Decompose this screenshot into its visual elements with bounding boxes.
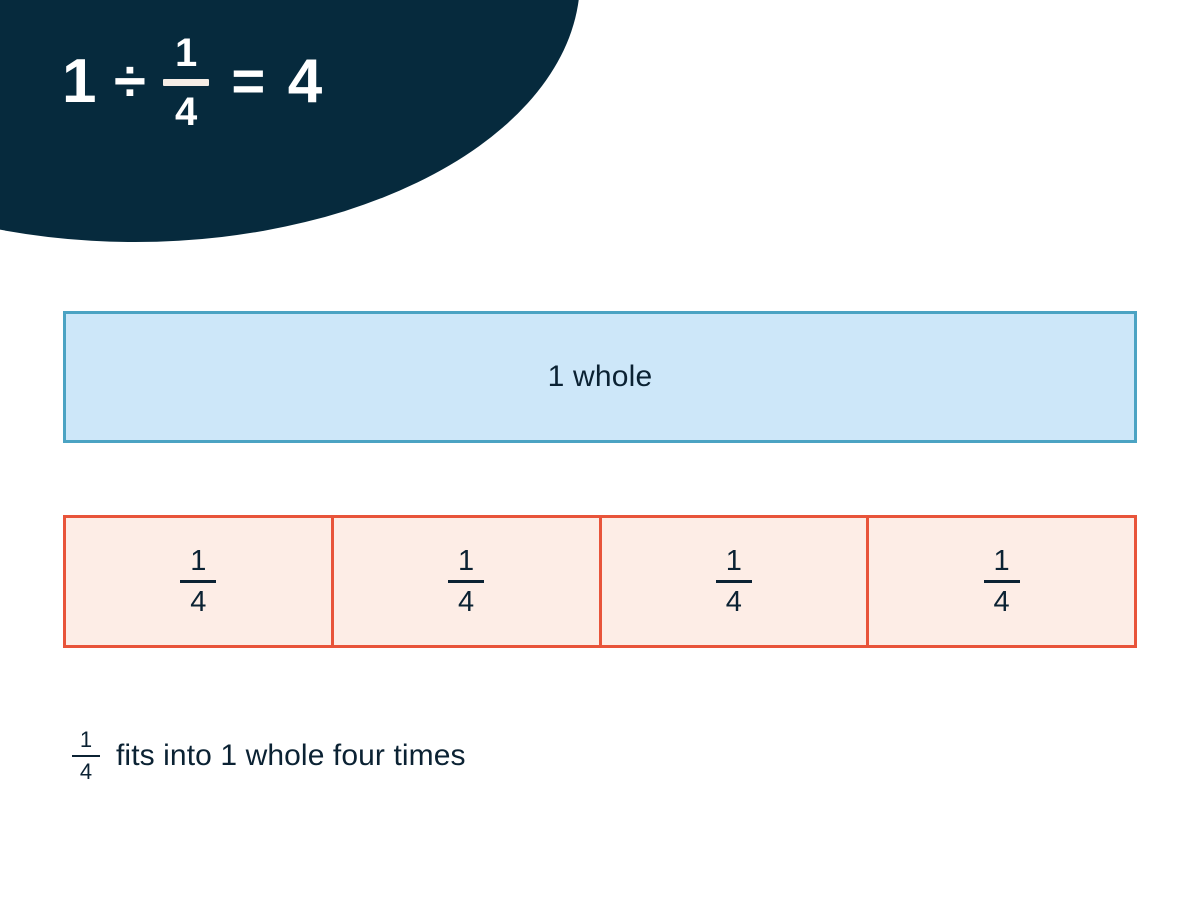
- cell-fraction-numerator: 1: [458, 546, 474, 576]
- equation-divisor-fraction: 1 4: [163, 32, 209, 133]
- cell-fraction: 1 4: [984, 546, 1020, 618]
- cell-fraction-denominator: 4: [994, 587, 1010, 617]
- equation-divisor-fraction-bar: [163, 79, 209, 86]
- cell-fraction-bar: [716, 580, 752, 583]
- cell-fraction-bar: [180, 580, 216, 583]
- caption-text: fits into 1 whole four times: [116, 739, 466, 773]
- cell-fraction-denominator: 4: [190, 587, 206, 617]
- parts-bar-cell: 1 4: [334, 518, 602, 645]
- cell-fraction-numerator: 1: [994, 546, 1010, 576]
- caption: 1 4 fits into 1 whole four times: [72, 728, 466, 784]
- equation-divisor-denominator: 4: [175, 91, 198, 133]
- hero-equation: 1 ÷ 1 4 = 4: [62, 22, 323, 142]
- caption-fraction: 1 4: [72, 728, 100, 784]
- divide-symbol-icon: ÷: [114, 53, 146, 111]
- cell-fraction-numerator: 1: [726, 546, 742, 576]
- whole-bar: 1 whole: [63, 311, 1137, 443]
- caption-fraction-numerator: 1: [80, 728, 92, 752]
- equation-dividend: 1: [62, 51, 97, 113]
- parts-bar-cell: 1 4: [602, 518, 870, 645]
- diagram-canvas: 1 ÷ 1 4 = 4 1 whole 1 4 1 4: [0, 0, 1200, 900]
- cell-fraction-bar: [984, 580, 1020, 583]
- whole-bar-label: 1 whole: [548, 360, 653, 394]
- cell-fraction: 1 4: [180, 546, 216, 618]
- caption-fraction-bar: [72, 755, 100, 757]
- cell-fraction-denominator: 4: [726, 587, 742, 617]
- cell-fraction: 1 4: [448, 546, 484, 618]
- cell-fraction-numerator: 1: [190, 546, 206, 576]
- caption-fraction-denominator: 4: [80, 760, 92, 784]
- equals-symbol-icon: =: [231, 53, 265, 111]
- parts-bar: 1 4 1 4 1 4 1 4: [63, 515, 1137, 648]
- equation-divisor-numerator: 1: [175, 32, 198, 74]
- parts-bar-cell: 1 4: [869, 518, 1134, 645]
- equation-quotient: 4: [288, 51, 323, 113]
- cell-fraction-denominator: 4: [458, 587, 474, 617]
- parts-bar-cell: 1 4: [66, 518, 334, 645]
- cell-fraction: 1 4: [716, 546, 752, 618]
- cell-fraction-bar: [448, 580, 484, 583]
